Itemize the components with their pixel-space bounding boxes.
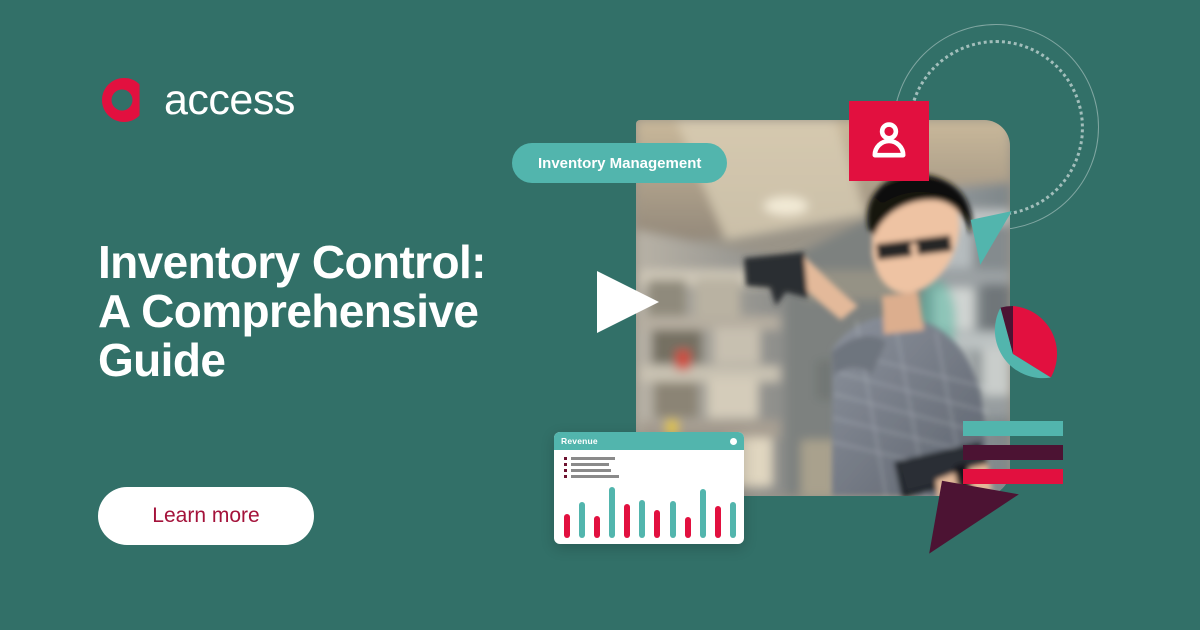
brand-logo-text: access <box>164 79 295 122</box>
legend-placeholder-line <box>571 457 615 460</box>
revenue-bar <box>609 487 615 538</box>
pie-chart <box>963 304 1063 404</box>
revenue-bar <box>730 502 736 538</box>
revenue-bar <box>594 516 600 538</box>
learn-more-button[interactable]: Learn more <box>98 487 314 545</box>
revenue-bar <box>685 517 691 538</box>
revenue-bar <box>624 504 630 538</box>
user-badge <box>849 101 929 181</box>
revenue-card-body <box>554 450 744 544</box>
bullet-icon <box>564 469 567 472</box>
revenue-bar <box>715 506 721 538</box>
list-item <box>564 457 734 460</box>
headline-line-1: Inventory Control: <box>98 238 568 287</box>
legend-placeholder-line <box>571 475 619 478</box>
revenue-bar <box>700 489 706 538</box>
bullet-icon <box>564 463 567 466</box>
access-pin-icon <box>98 74 150 126</box>
revenue-bar <box>564 514 570 538</box>
legend-placeholder-line <box>571 463 609 466</box>
mini-bar-chart <box>963 421 1063 493</box>
bullet-icon <box>564 475 567 478</box>
brand-logo[interactable]: access <box>98 74 295 126</box>
revenue-bar <box>654 510 660 538</box>
maroon-triangle-icon <box>929 481 1019 567</box>
revenue-card-title: Revenue <box>561 436 598 446</box>
revenue-bar-chart <box>564 480 736 538</box>
category-badge-label: Inventory Management <box>538 155 701 172</box>
hbar-maroon <box>963 445 1063 460</box>
pie-chart-svg <box>963 304 1063 404</box>
hbar-teal <box>963 421 1063 436</box>
list-item <box>564 463 734 466</box>
status-dot <box>730 438 737 445</box>
revenue-legend <box>564 457 734 478</box>
access-pin-icon-svg <box>98 74 150 126</box>
legend-placeholder-line <box>571 469 611 472</box>
poster-canvas: Inventory Management Revenue <box>0 0 1200 630</box>
hbar-red <box>963 469 1063 484</box>
revenue-card: Revenue <box>554 432 744 544</box>
revenue-bar <box>670 501 676 538</box>
category-badge[interactable]: Inventory Management <box>512 143 727 183</box>
headline-line-2: A Comprehensive <box>98 287 568 336</box>
list-item <box>564 475 734 478</box>
user-person-icon <box>866 118 912 164</box>
play-triangle-icon[interactable] <box>597 271 659 333</box>
list-item <box>564 469 734 472</box>
revenue-card-header: Revenue <box>554 432 744 450</box>
headline-line-3: Guide <box>98 336 568 385</box>
bullet-icon <box>564 457 567 460</box>
revenue-bar <box>579 502 585 538</box>
page-title: Inventory Control: A Comprehensive Guide <box>98 238 568 384</box>
revenue-bar <box>639 500 645 538</box>
